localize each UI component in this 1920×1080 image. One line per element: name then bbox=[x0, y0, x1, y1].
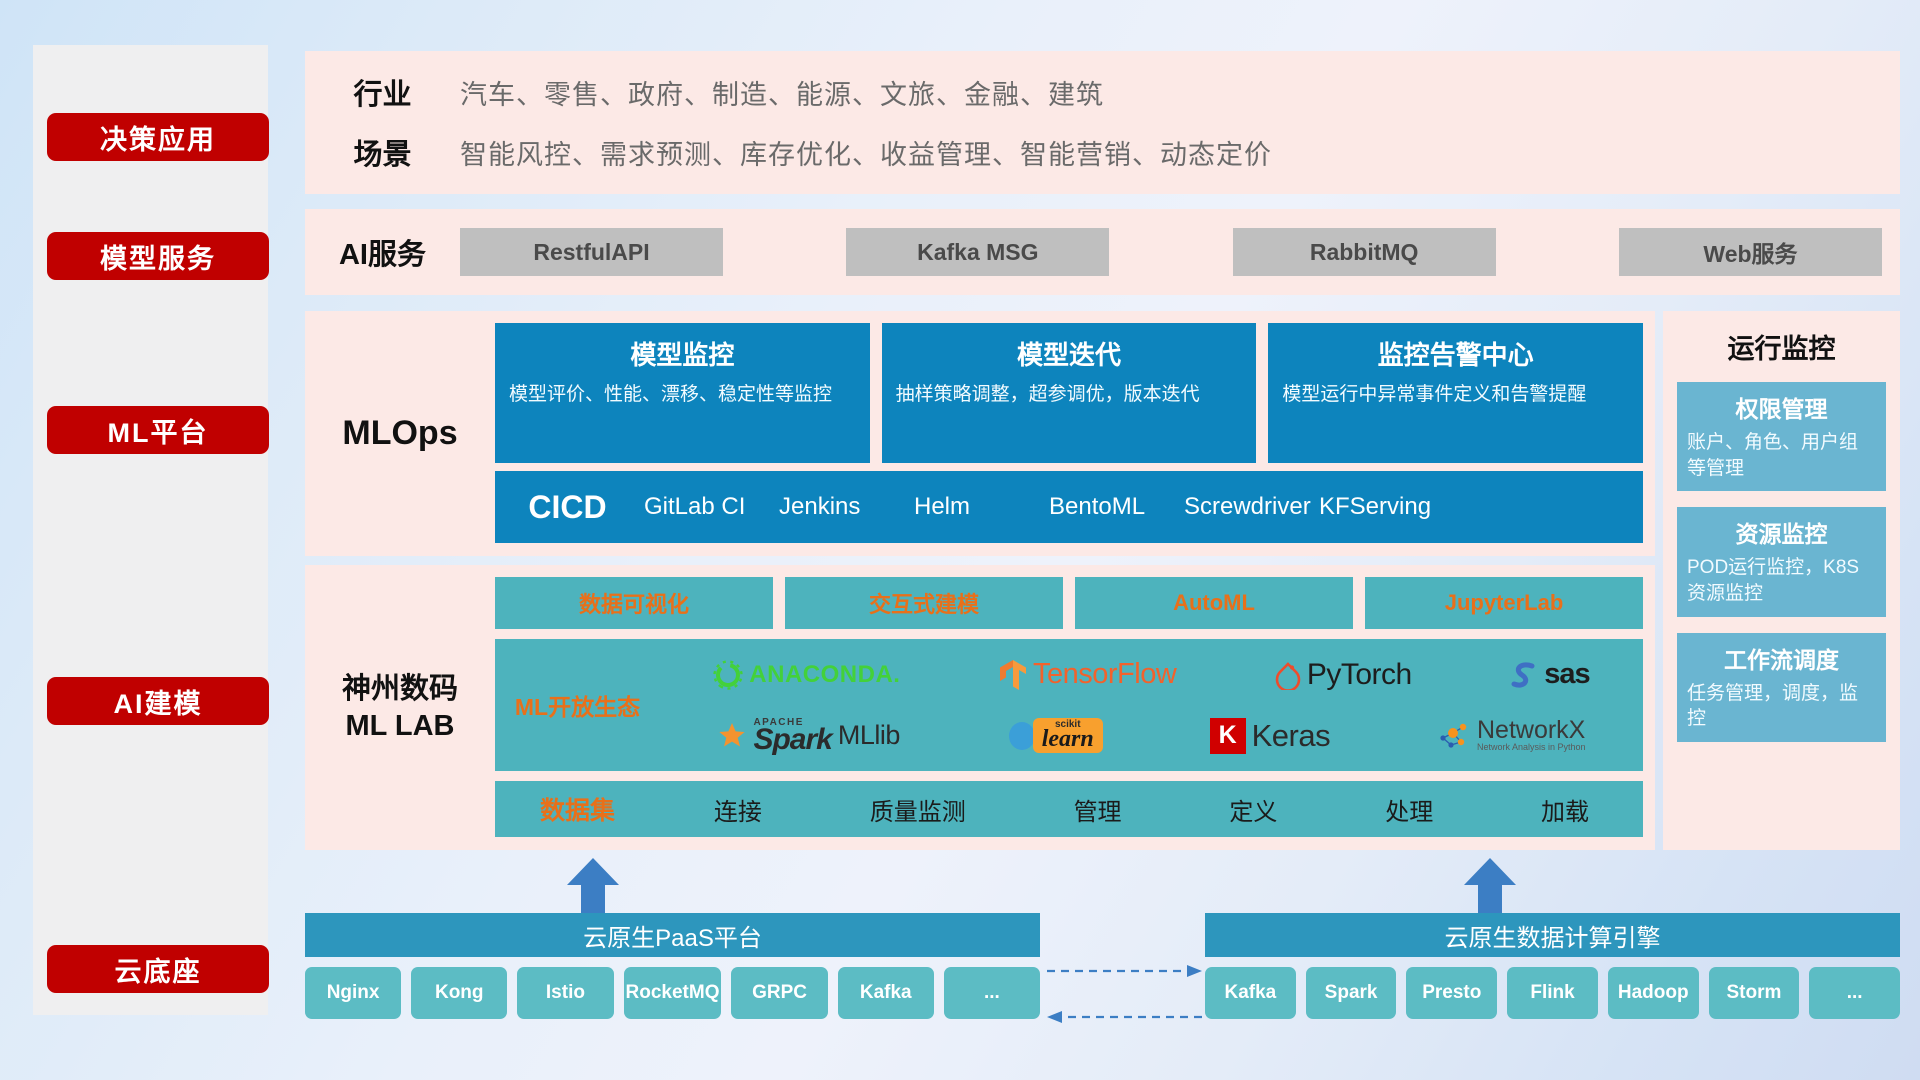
ml-lab-label-line2: ML LAB bbox=[342, 708, 458, 744]
stage-pill-cloud-base[interactable]: 云底座 bbox=[47, 945, 269, 993]
tensorflow-wordmark: TensorFlow bbox=[1033, 658, 1176, 691]
cicd-item[interactable]: Jenkins bbox=[775, 491, 910, 523]
ml-lab-tool-list: 数据可视化 交互式建模 AutoML JupyterLab bbox=[495, 577, 1643, 629]
ml-open-ecosystem: ML开放生态 ANACONDA. bbox=[495, 639, 1643, 771]
dataset-item[interactable]: 质量监测 bbox=[870, 792, 966, 827]
stage-label: 决策应用 bbox=[100, 118, 216, 157]
card-desc: 模型评价、性能、漂移、稳定性等监控 bbox=[509, 382, 856, 408]
sas-icon bbox=[1510, 660, 1538, 690]
cloud-data-engine-chip[interactable]: ... bbox=[1809, 967, 1900, 1019]
mlops-card-list: 模型监控 模型评价、性能、漂移、稳定性等监控 模型迭代 抽样策略调整，超参调优，… bbox=[495, 323, 1643, 463]
cloud-paas-chip[interactable]: Kong bbox=[411, 967, 507, 1019]
networkx-wordmark: NetworkX bbox=[1477, 719, 1586, 743]
up-arrow-data-engine-icon bbox=[1460, 858, 1520, 913]
ai-service-chip[interactable]: Kafka MSG bbox=[846, 228, 1109, 276]
ai-service-chip-list: RestfulAPI Kafka MSG RabbitMQ Web服务 bbox=[460, 228, 1900, 276]
scenario-values: 智能风控、需求预测、库存优化、收益管理、智能营销、动态定价 bbox=[460, 133, 1272, 172]
dataset-bar: 数据集 连接 质量监测 管理 定义 处理 加载 bbox=[495, 781, 1643, 837]
mlops-label: MLOps bbox=[305, 311, 495, 556]
dataset-item[interactable]: 定义 bbox=[1229, 792, 1277, 827]
networkx-subtitle: Network Analysis in Python bbox=[1477, 743, 1586, 752]
mllib-wordmark: MLlib bbox=[838, 720, 900, 751]
mlops-card-model-iteration[interactable]: 模型迭代 抽样策略调整，超参调优，版本迭代 bbox=[882, 323, 1257, 463]
cloud-paas-chip[interactable]: Nginx bbox=[305, 967, 401, 1019]
ai-service-label: AI服务 bbox=[305, 231, 460, 273]
anaconda-logo: ANACONDA. bbox=[713, 660, 900, 690]
card-desc: 账户、角色、用户组等管理 bbox=[1687, 430, 1876, 481]
stage-pill-decision-app[interactable]: 决策应用 bbox=[47, 113, 269, 161]
cloud-paas-chip[interactable]: GRPC bbox=[731, 967, 827, 1019]
runtime-monitor-title: 运行监控 bbox=[1677, 327, 1886, 366]
cicd-item[interactable]: Helm bbox=[910, 491, 1045, 523]
scenario-row: 场景 智能风控、需求预测、库存优化、收益管理、智能营销、动态定价 bbox=[305, 122, 1900, 182]
keras-logo: K Keras bbox=[1210, 718, 1330, 754]
stage-label: 模型服务 bbox=[100, 237, 216, 276]
ml-open-ecosystem-label: ML开放生态 bbox=[495, 688, 660, 722]
mlops-card-alert-center[interactable]: 监控告警中心 模型运行中异常事件定义和告警提醒 bbox=[1268, 323, 1643, 463]
card-desc: 抽样策略调整，超参调优，版本迭代 bbox=[896, 382, 1243, 408]
sas-logo: sas bbox=[1510, 658, 1589, 691]
industry-values: 汽车、零售、政府、制造、能源、文旅、金融、建筑 bbox=[460, 73, 1104, 112]
ecosystem-logo-grid: ANACONDA. TensorFlow bbox=[660, 639, 1643, 771]
cicd-title: CICD bbox=[495, 489, 640, 526]
stage-label: AI建模 bbox=[114, 682, 203, 721]
ecosystem-logo-row-1: ANACONDA. TensorFlow bbox=[664, 645, 1639, 704]
mlops-content: 模型监控 模型评价、性能、漂移、稳定性等监控 模型迭代 抽样策略调整，超参调优，… bbox=[495, 311, 1655, 556]
ml-lab-tool[interactable]: 交互式建模 bbox=[785, 577, 1063, 629]
dataset-item-list: 连接 质量监测 管理 定义 处理 加载 bbox=[660, 792, 1643, 827]
up-arrow-paas-icon bbox=[563, 858, 623, 913]
card-title: 模型监控 bbox=[509, 335, 856, 372]
cloud-data-engine-chip[interactable]: Kafka bbox=[1205, 967, 1296, 1019]
pytorch-icon bbox=[1275, 660, 1301, 690]
cloud-data-engine-title: 云原生数据计算引擎 bbox=[1205, 913, 1900, 957]
dataset-label: 数据集 bbox=[495, 791, 660, 827]
scikit-learn-logo: scikit learn bbox=[1007, 718, 1103, 754]
bidirectional-link bbox=[1047, 955, 1202, 1035]
anaconda-icon bbox=[713, 660, 743, 690]
cicd-item[interactable]: KFServing bbox=[1315, 491, 1450, 523]
cicd-item[interactable]: Screwdriver bbox=[1180, 491, 1315, 523]
stage-pill-model-service[interactable]: 模型服务 bbox=[47, 232, 269, 280]
cicd-bar: CICD GitLab CI Jenkins Helm BentoML Scre… bbox=[495, 471, 1643, 543]
ai-service-chip[interactable]: RabbitMQ bbox=[1233, 228, 1496, 276]
stage-column bbox=[33, 45, 268, 1015]
cicd-item[interactable]: BentoML bbox=[1045, 491, 1180, 523]
cloud-data-engine-chip[interactable]: Presto bbox=[1406, 967, 1497, 1019]
stage-label: ML平台 bbox=[108, 411, 209, 450]
ml-lab-label: 神州数码 ML LAB bbox=[305, 565, 495, 850]
spark-mllib-logo: APACHE Spark MLlib bbox=[717, 719, 899, 753]
scenario-label: 场景 bbox=[305, 131, 460, 173]
ai-modeling-band: 神州数码 ML LAB 数据可视化 交互式建模 AutoML JupyterLa… bbox=[305, 565, 1655, 850]
ml-lab-content: 数据可视化 交互式建模 AutoML JupyterLab ML开放生态 bbox=[495, 565, 1655, 850]
card-desc: 模型运行中异常事件定义和告警提醒 bbox=[1282, 382, 1629, 408]
anaconda-wordmark: ANACONDA. bbox=[749, 661, 900, 689]
industry-label: 行业 bbox=[305, 71, 460, 113]
monitor-card-resource[interactable]: 资源监控 POD运行监控，K8S资源监控 bbox=[1677, 507, 1886, 616]
networkx-graph-icon bbox=[1437, 720, 1471, 750]
sas-wordmark: sas bbox=[1544, 658, 1589, 691]
learn-wordmark: learn bbox=[1042, 729, 1094, 751]
keras-wordmark: Keras bbox=[1252, 718, 1330, 754]
cicd-item-list: GitLab CI Jenkins Helm BentoML Screwdriv… bbox=[640, 491, 1643, 523]
cloud-paas-chip[interactable]: Kafka bbox=[838, 967, 934, 1019]
pytorch-logo: PyTorch bbox=[1275, 658, 1412, 692]
ml-lab-tool[interactable]: AutoML bbox=[1075, 577, 1353, 629]
card-title: 资源监控 bbox=[1687, 515, 1876, 549]
card-desc: 任务管理，调度，监控 bbox=[1687, 681, 1876, 732]
monitor-card-workflow[interactable]: 工作流调度 任务管理，调度，监控 bbox=[1677, 633, 1886, 742]
keras-icon: K bbox=[1210, 718, 1246, 754]
dataset-item[interactable]: 加载 bbox=[1541, 792, 1589, 827]
cloud-paas-chip[interactable]: RocketMQ bbox=[624, 967, 722, 1019]
ai-service-band: AI服务 RestfulAPI Kafka MSG RabbitMQ Web服务 bbox=[305, 209, 1900, 295]
stage-pill-ml-platform[interactable]: ML平台 bbox=[47, 406, 269, 454]
cloud-data-engine-chip[interactable]: Hadoop bbox=[1608, 967, 1699, 1019]
ml-lab-tool[interactable]: 数据可视化 bbox=[495, 577, 773, 629]
spark-wordmark: Spark bbox=[753, 727, 831, 753]
card-title: 模型迭代 bbox=[896, 335, 1243, 372]
stage-label: 云底座 bbox=[115, 950, 202, 989]
card-title: 监控告警中心 bbox=[1282, 335, 1629, 372]
cloud-native-data-engine-group: 云原生数据计算引擎 Kafka Spark Presto Flink Hadoo… bbox=[1205, 913, 1900, 1019]
cloud-data-engine-chip[interactable]: Spark bbox=[1306, 967, 1397, 1019]
decision-application-band: 行业 汽车、零售、政府、制造、能源、文旅、金融、建筑 场景 智能风控、需求预测、… bbox=[305, 51, 1900, 194]
dataset-item[interactable]: 连接 bbox=[714, 792, 762, 827]
cicd-item[interactable]: GitLab CI bbox=[640, 491, 775, 523]
cloud-data-engine-chip[interactable]: Flink bbox=[1507, 967, 1598, 1019]
cloud-data-engine-chip-list: Kafka Spark Presto Flink Hadoop Storm ..… bbox=[1205, 957, 1900, 1019]
cloud-data-engine-chip[interactable]: Storm bbox=[1709, 967, 1800, 1019]
card-title: 工作流调度 bbox=[1687, 641, 1876, 675]
ml-lab-tool[interactable]: JupyterLab bbox=[1365, 577, 1643, 629]
ecosystem-logo-row-2: APACHE Spark MLlib scikit bbox=[664, 706, 1639, 765]
pytorch-wordmark: PyTorch bbox=[1307, 658, 1412, 692]
ml-lab-label-line1: 神州数码 bbox=[342, 671, 458, 707]
cloud-paas-chip[interactable]: Istio bbox=[517, 967, 613, 1019]
tensorflow-logo: TensorFlow bbox=[999, 658, 1176, 691]
main-diagram: 行业 汽车、零售、政府、制造、能源、文旅、金融、建筑 场景 智能风控、需求预测、… bbox=[305, 0, 1915, 1080]
industry-row: 行业 汽车、零售、政府、制造、能源、文旅、金融、建筑 bbox=[305, 62, 1900, 122]
runtime-monitor-panel: 运行监控 权限管理 账户、角色、用户组等管理 资源监控 POD运行监控，K8S资… bbox=[1663, 311, 1900, 850]
stage-pill-ai-modeling[interactable]: AI建模 bbox=[47, 677, 269, 725]
cloud-paas-chip-list: Nginx Kong Istio RocketMQ GRPC Kafka ... bbox=[305, 957, 1040, 1019]
dataset-item[interactable]: 管理 bbox=[1074, 792, 1122, 827]
monitor-card-permission[interactable]: 权限管理 账户、角色、用户组等管理 bbox=[1677, 382, 1886, 491]
mlops-band: MLOps 模型监控 模型评价、性能、漂移、稳定性等监控 模型迭代 抽样策略调整… bbox=[305, 311, 1655, 556]
cloud-native-paas-group: 云原生PaaS平台 Nginx Kong Istio RocketMQ GRPC… bbox=[305, 913, 1040, 1019]
ai-service-chip[interactable]: RestfulAPI bbox=[460, 228, 723, 276]
spark-star-icon bbox=[717, 721, 747, 751]
card-title: 权限管理 bbox=[1687, 390, 1876, 424]
cloud-paas-chip[interactable]: ... bbox=[944, 967, 1040, 1019]
mlops-card-model-monitoring[interactable]: 模型监控 模型评价、性能、漂移、稳定性等监控 bbox=[495, 323, 870, 463]
tensorflow-icon bbox=[999, 659, 1027, 691]
cloud-paas-title: 云原生PaaS平台 bbox=[305, 913, 1040, 957]
card-desc: POD运行监控，K8S资源监控 bbox=[1687, 555, 1876, 606]
dataset-item[interactable]: 处理 bbox=[1385, 792, 1433, 827]
networkx-logo: NetworkX Network Analysis in Python bbox=[1437, 719, 1586, 751]
ai-service-chip[interactable]: Web服务 bbox=[1619, 228, 1882, 276]
